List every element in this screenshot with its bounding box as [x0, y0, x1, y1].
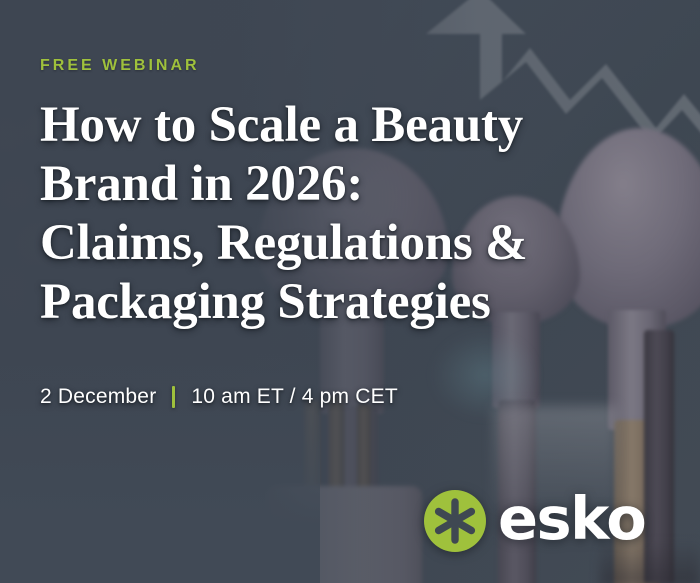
page-title: How to Scale a Beauty Brand in 2026: Cla…	[40, 96, 640, 332]
asterisk-icon	[424, 490, 486, 552]
event-datetime: 2 December 10 am ET / 4 pm CET	[40, 385, 398, 409]
headline-line-4: Packaging Strategies	[40, 273, 640, 332]
event-date: 2 December	[40, 385, 156, 409]
headline-line-2: Brand in 2026:	[40, 155, 640, 214]
headline-line-1: How to Scale a Beauty	[40, 96, 640, 155]
banner-content: FREE WEBINAR How to Scale a Beauty Brand…	[0, 0, 700, 583]
headline-line-3: Claims, Regulations &	[40, 214, 640, 273]
esko-wordmark: esko	[498, 489, 645, 553]
datetime-separator	[172, 386, 175, 408]
eyebrow-label: FREE WEBINAR	[40, 57, 200, 75]
webinar-promo-banner: FREE WEBINAR How to Scale a Beauty Brand…	[0, 0, 700, 583]
event-time: 10 am ET / 4 pm CET	[191, 385, 397, 409]
esko-logo: esko	[424, 489, 645, 553]
